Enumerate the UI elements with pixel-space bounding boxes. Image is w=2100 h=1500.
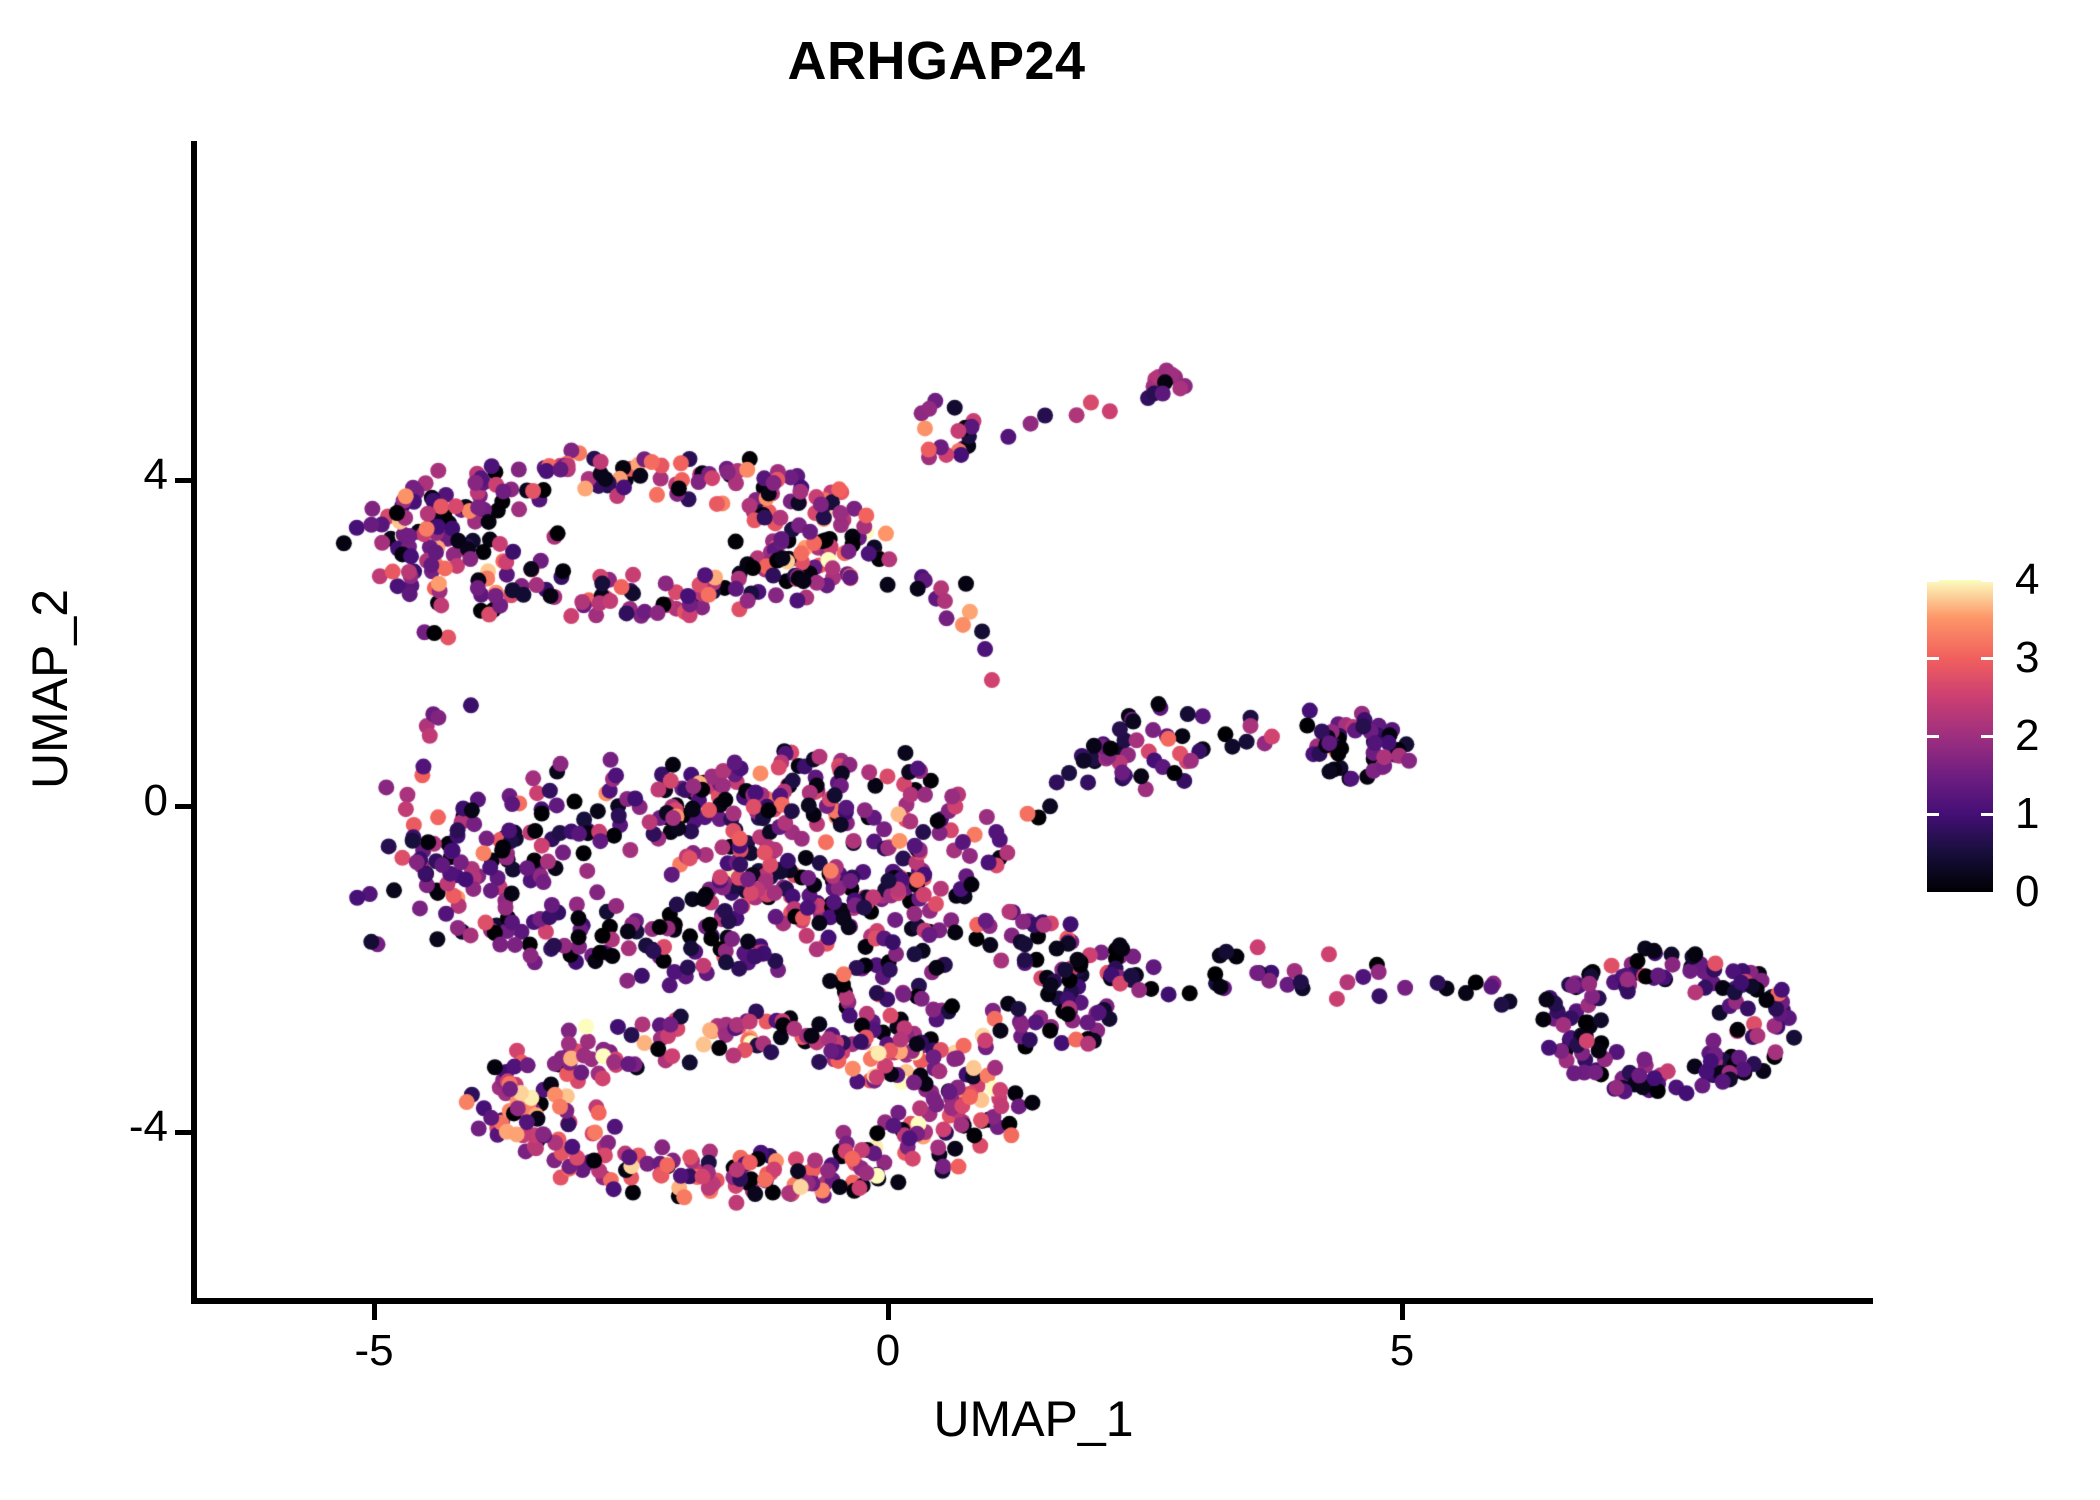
scatter-plot-panel[interactable] bbox=[194, 141, 1873, 1301]
x-tick-mark bbox=[1400, 1304, 1405, 1320]
x-tick-label: 5 bbox=[1322, 1326, 1482, 1376]
colorbar-tick-mark bbox=[1927, 657, 1939, 660]
colorbar-tick-label: 3 bbox=[2015, 633, 2075, 683]
y-axis-line bbox=[191, 141, 197, 1304]
y-tick-mark bbox=[175, 1130, 191, 1135]
colorbar-tick-mark bbox=[1981, 735, 1993, 738]
color-legend[interactable]: 01234 bbox=[1927, 580, 2087, 910]
colorbar-tick-label: 1 bbox=[2015, 789, 2075, 839]
colorbar-tick-label: 2 bbox=[2015, 711, 2075, 761]
scatter-points-canvas bbox=[194, 141, 1873, 1301]
x-tick-mark bbox=[886, 1304, 891, 1320]
colorbar-tick-mark bbox=[1981, 579, 1993, 582]
x-axis-line bbox=[191, 1298, 1873, 1304]
y-tick-mark bbox=[175, 478, 191, 483]
colorbar-tick-mark bbox=[1981, 657, 1993, 660]
colorbar-tick-label: 4 bbox=[2015, 555, 2075, 605]
colorbar-tick-mark bbox=[1927, 579, 1939, 582]
y-axis-title: UMAP_2 bbox=[21, 439, 79, 939]
x-tick-mark bbox=[372, 1304, 377, 1320]
colorbar-tick-mark bbox=[1927, 735, 1939, 738]
x-tick-label: 0 bbox=[808, 1326, 968, 1376]
colorbar-tick-mark bbox=[1927, 813, 1939, 816]
colorbar-tick-mark bbox=[1981, 813, 1993, 816]
y-tick-label: -4 bbox=[18, 1102, 168, 1152]
page-title: ARHGAP24 bbox=[0, 30, 1873, 92]
colorbar-tick-label: 0 bbox=[2015, 867, 2075, 917]
y-tick-mark bbox=[175, 804, 191, 809]
x-axis-title: UMAP_1 bbox=[194, 1390, 1873, 1448]
x-tick-label: -5 bbox=[294, 1326, 454, 1376]
feature-plot-figure: ARHGAP24 -404 -505 UMAP_1 UMAP_2 01234 bbox=[0, 0, 2100, 1500]
